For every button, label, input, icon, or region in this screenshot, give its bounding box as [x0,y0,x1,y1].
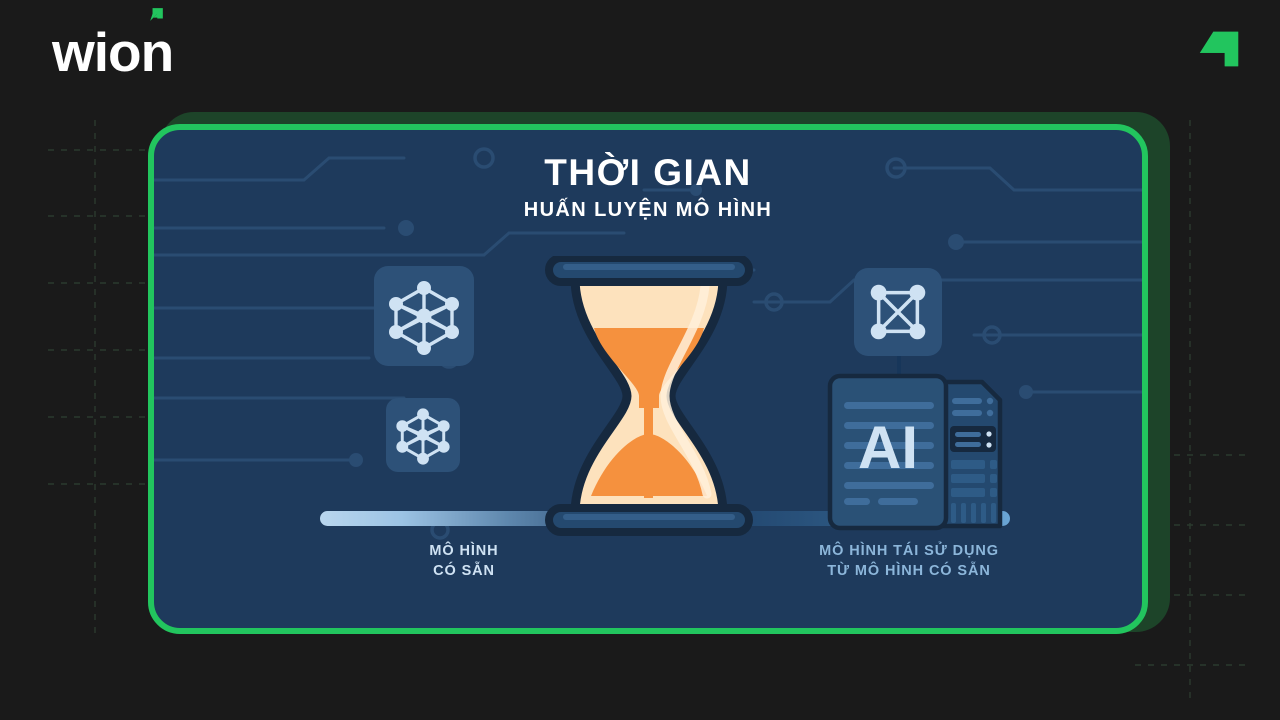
arrow-up-right-icon [147,5,166,24]
network-graph-icon [374,266,474,366]
label-existing-model-line2: CÓ SẴN [339,562,589,582]
brand-logo: wion [52,22,173,80]
label-reused-model-line2: TỪ MÔ HÌNH CÓ SẴN [754,562,1064,582]
network-square-tile [854,268,942,356]
title-main: THỜI GIAN [154,154,1142,193]
infographic-card: THỜI GIAN HUẤN LUYỆN MÔ HÌNH [148,124,1148,634]
label-existing-model-line1: MÔ HÌNH [339,542,589,562]
title-sub: HUẤN LUYỆN MÔ HÌNH [154,199,1142,222]
hourglass-icon [539,256,759,536]
network-graph-icon [386,398,460,472]
network-graph-tile-large [374,266,474,366]
label-reused-model: MÔ HÌNH TÁI SỬ DỤNG TỪ MÔ HÌNH CÓ SẴN [754,542,1064,581]
card-title-block: THỜI GIAN HUẤN LUYỆN MÔ HÌNH [154,154,1142,222]
network-graph-tile-small [386,398,460,472]
network-square-icon [854,268,942,356]
logo-wordmark: wion [52,25,173,80]
label-existing-model: MÔ HÌNH CÓ SẴN [339,542,589,581]
ai-server-illustration: AI [824,370,1014,536]
label-reused-model-line1: MÔ HÌNH TÁI SỬ DỤNG [754,542,1064,562]
corner-arrow-up-right-icon [1196,24,1242,74]
ai-label: AI [858,414,918,481]
